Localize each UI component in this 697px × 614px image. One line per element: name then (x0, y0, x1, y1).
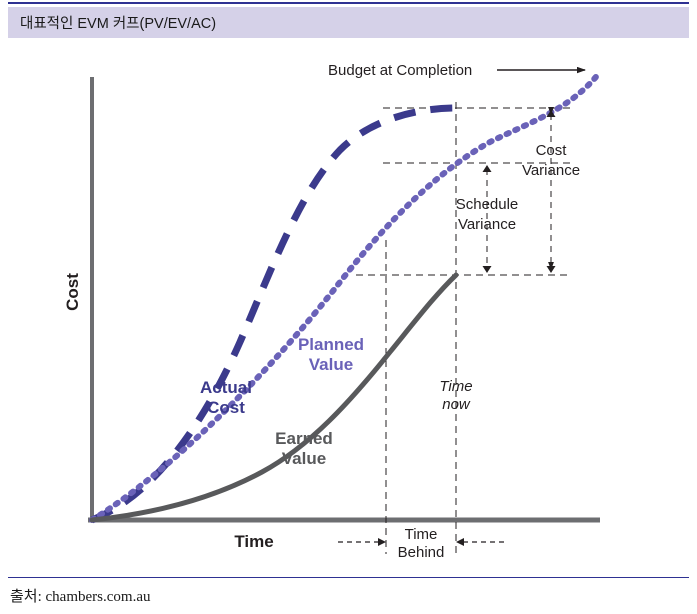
header-top-rule (8, 2, 689, 4)
schedule-variance-label-line2: Variance (458, 216, 516, 233)
footer-rule (8, 577, 689, 578)
series-planned-value-line (92, 72, 600, 520)
time-behind-arrowhead-left (378, 538, 386, 546)
x-axis-title: Time (234, 532, 273, 551)
page-title: 대표적인 EVM 커프(PV/EV/AC) (8, 12, 216, 33)
schedule-variance-arrowhead-bottom (483, 266, 492, 273)
time-now-label-line1: Time (439, 378, 472, 395)
series-label-earned-value-line1: Earned (275, 429, 333, 448)
y-axis-title: Cost (63, 273, 82, 311)
series-label-actual-cost-line1: Actual (200, 378, 252, 397)
schedule-variance-arrowhead-top (483, 165, 492, 172)
time-behind-label-line1: Time (405, 526, 438, 543)
cost-variance-label-line1: Cost (536, 142, 568, 159)
time-behind-label-line2: Behind (398, 544, 445, 561)
series-label-planned-value-line1: Planned (298, 335, 364, 354)
series-label-earned-value-line2: Value (282, 449, 326, 468)
header-band: 대표적인 EVM 커프(PV/EV/AC) (8, 7, 689, 38)
schedule-variance-label-line1: Schedule (456, 196, 519, 213)
cost-variance-arrowhead-bottom (547, 266, 556, 273)
evm-chart: Budget at Completion Cost Variance Sched… (0, 42, 697, 562)
budget-at-completion-label: Budget at Completion (328, 62, 472, 79)
time-behind-arrowhead-right (456, 538, 464, 546)
series-label-planned-value-line2: Value (309, 355, 353, 374)
evm-curve-page: 대표적인 EVM 커프(PV/EV/AC) (0, 0, 697, 614)
cost-variance-label-line2: Variance (522, 162, 580, 179)
series-label-actual-cost-line2: Cost (207, 398, 245, 417)
evm-chart-svg: Budget at Completion Cost Variance Sched… (0, 42, 697, 562)
series-actual-cost-line (92, 108, 456, 520)
time-now-label-line2: now (442, 396, 471, 413)
source-caption: 출처: chambers.com.au (10, 585, 150, 606)
